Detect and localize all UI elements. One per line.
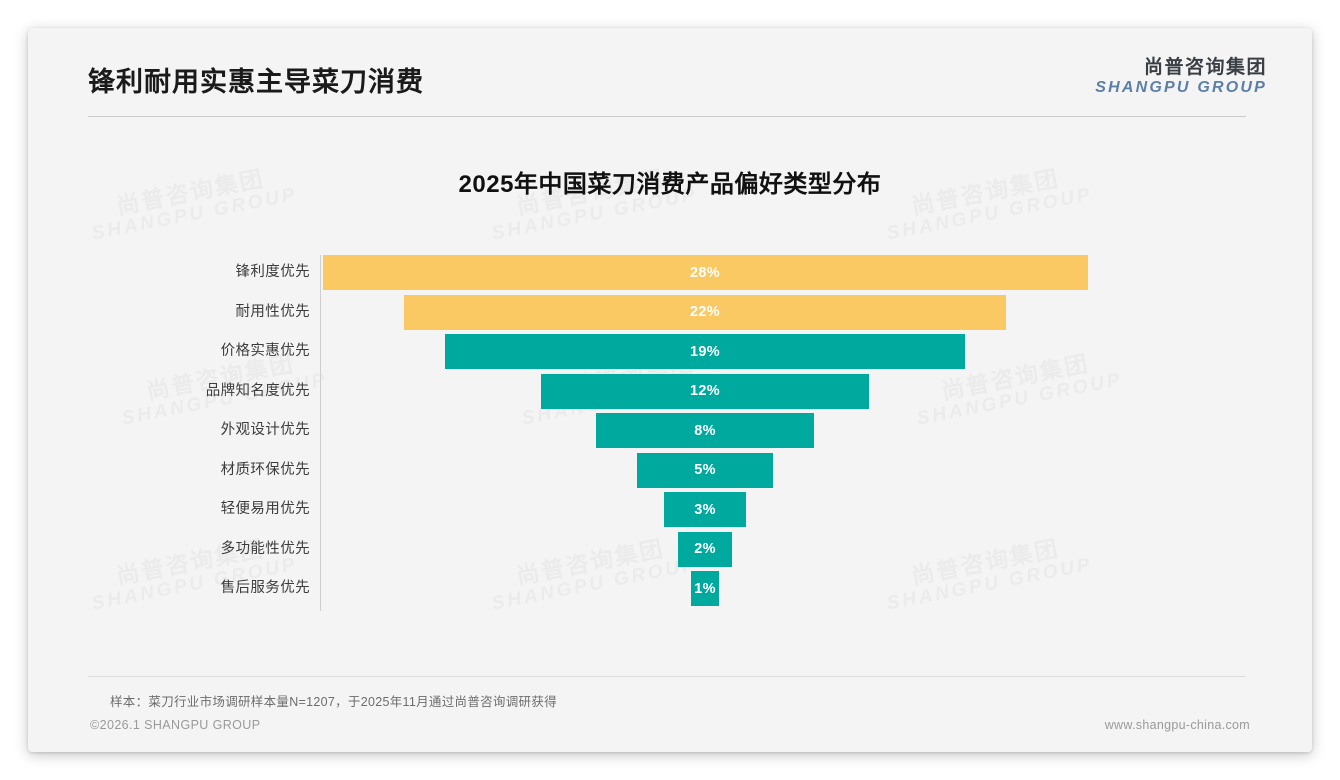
source-footnote: 样本：菜刀行业市场调研样本量N=1207，于2025年11月通过尚普咨询调研获得 bbox=[110, 691, 557, 710]
funnel-bar[interactable]: 2% bbox=[678, 532, 733, 567]
copyright-text: ©2026.1 SHANGPU GROUP bbox=[90, 718, 260, 732]
bar-value-label: 19% bbox=[690, 344, 720, 360]
slide-canvas: 锋利耐用实惠主导菜刀消费 尚普咨询集团 SHANGPU GROUP 尚普咨询集团… bbox=[28, 28, 1312, 752]
page-title: 锋利耐用实惠主导菜刀消费 bbox=[88, 60, 424, 99]
brand-logo: 尚普咨询集团 SHANGPU GROUP bbox=[1095, 58, 1267, 96]
funnel-chart-plot: 锋利度优先28%耐用性优先22%价格实惠优先19%品牌知名度优先12%外观设计优… bbox=[28, 255, 1312, 625]
chart-container: 尚普咨询集团SHANGPU GROUP尚普咨询集团SHANGPU GROUP尚普… bbox=[28, 120, 1312, 660]
bar-value-label: 1% bbox=[694, 581, 716, 597]
slide-footer: ©2026.1 SHANGPU GROUP www.shangpu-china.… bbox=[28, 718, 1312, 738]
funnel-bar[interactable]: 28% bbox=[323, 255, 1088, 290]
slide-header: 锋利耐用实惠主导菜刀消费 尚普咨询集团 SHANGPU GROUP bbox=[28, 28, 1312, 120]
bar-value-label: 5% bbox=[694, 462, 716, 478]
funnel-bar[interactable]: 22% bbox=[404, 295, 1005, 330]
category-label: 材质环保优先 bbox=[28, 453, 310, 488]
category-label: 外观设计优先 bbox=[28, 413, 310, 448]
bar-value-label: 8% bbox=[694, 423, 716, 439]
chart-row: 多功能性优先2% bbox=[28, 532, 1312, 567]
bar-value-label: 28% bbox=[690, 265, 720, 281]
bar-value-label: 2% bbox=[694, 541, 716, 557]
funnel-bar[interactable]: 19% bbox=[445, 334, 964, 369]
category-label: 品牌知名度优先 bbox=[28, 374, 310, 409]
category-label: 耐用性优先 bbox=[28, 295, 310, 330]
chart-title: 2025年中国菜刀消费产品偏好类型分布 bbox=[28, 164, 1312, 199]
chart-row: 价格实惠优先19% bbox=[28, 334, 1312, 369]
funnel-bar[interactable]: 1% bbox=[691, 571, 719, 606]
logo-english-text: SHANGPU GROUP bbox=[1095, 79, 1267, 96]
bar-value-label: 3% bbox=[694, 502, 716, 518]
category-label: 价格实惠优先 bbox=[28, 334, 310, 369]
chart-row: 品牌知名度优先12% bbox=[28, 374, 1312, 409]
bar-value-label: 12% bbox=[690, 383, 720, 399]
chart-row: 耐用性优先22% bbox=[28, 295, 1312, 330]
bar-value-label: 22% bbox=[690, 304, 720, 320]
chart-row: 外观设计优先8% bbox=[28, 413, 1312, 448]
header-divider bbox=[88, 116, 1246, 117]
logo-chinese-text: 尚普咨询集团 bbox=[1095, 58, 1267, 79]
footnote-divider bbox=[88, 676, 1246, 677]
chart-row: 锋利度优先28% bbox=[28, 255, 1312, 290]
funnel-bar[interactable]: 12% bbox=[541, 374, 869, 409]
funnel-bar[interactable]: 8% bbox=[596, 413, 815, 448]
funnel-bar[interactable]: 3% bbox=[664, 492, 746, 527]
category-label: 锋利度优先 bbox=[28, 255, 310, 290]
category-label: 多功能性优先 bbox=[28, 532, 310, 567]
website-link[interactable]: www.shangpu-china.com bbox=[1105, 718, 1250, 732]
chart-row: 轻便易用优先3% bbox=[28, 492, 1312, 527]
category-label: 轻便易用优先 bbox=[28, 492, 310, 527]
category-label: 售后服务优先 bbox=[28, 571, 310, 606]
chart-row: 材质环保优先5% bbox=[28, 453, 1312, 488]
chart-row: 售后服务优先1% bbox=[28, 571, 1312, 606]
funnel-bar[interactable]: 5% bbox=[637, 453, 774, 488]
